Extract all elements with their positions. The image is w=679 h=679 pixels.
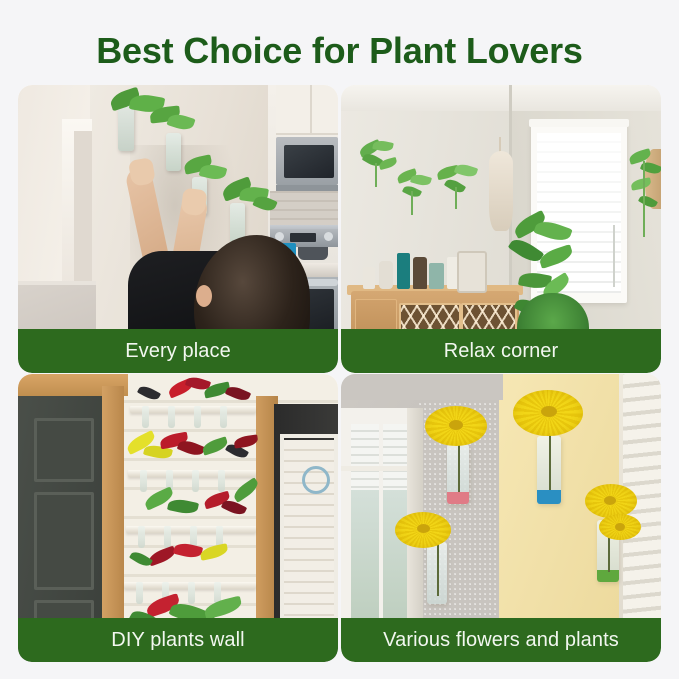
vase-band bbox=[537, 490, 561, 504]
daisy-center bbox=[417, 524, 430, 533]
hanging-vine bbox=[629, 151, 661, 261]
vase-band bbox=[447, 492, 469, 504]
test-tube-vase bbox=[220, 406, 227, 428]
daisy-center bbox=[604, 496, 616, 505]
wall-vase bbox=[166, 133, 181, 171]
ceiling bbox=[341, 85, 661, 111]
shelf-object bbox=[379, 261, 393, 289]
caption-label: DIY plants wall bbox=[111, 630, 244, 650]
test-tube-vase bbox=[194, 406, 201, 428]
right-door-frame bbox=[280, 434, 338, 648]
microwave-window bbox=[284, 145, 334, 178]
door-panel bbox=[34, 418, 94, 482]
teal-vase bbox=[397, 253, 410, 289]
upper-cabinet bbox=[276, 85, 338, 135]
blind-headrail bbox=[529, 119, 629, 127]
hallway-door bbox=[74, 131, 92, 287]
test-tube-vase bbox=[140, 470, 147, 492]
feature-grid: Every place bbox=[18, 85, 661, 662]
hanging-plant bbox=[437, 165, 481, 209]
caption-bar-diy-plants-wall: DIY plants wall bbox=[18, 618, 338, 662]
wall-vase bbox=[118, 103, 134, 151]
picture-frame bbox=[457, 251, 487, 293]
test-tube-vase bbox=[142, 406, 149, 428]
stove-knob bbox=[324, 232, 333, 241]
hanging-plant bbox=[359, 141, 399, 187]
test-tube-vase bbox=[218, 470, 225, 492]
caption-label: Every place bbox=[125, 341, 231, 361]
feature-card-every-place[interactable]: Every place bbox=[18, 85, 338, 373]
test-tube-vase bbox=[136, 582, 143, 604]
window-ornament bbox=[302, 466, 330, 494]
test-tube-vase bbox=[164, 526, 171, 548]
door-panel bbox=[34, 492, 94, 590]
daisy-center bbox=[615, 523, 625, 531]
ceiling bbox=[341, 374, 503, 400]
cooking-pot bbox=[298, 247, 328, 260]
test-tube-vase bbox=[192, 470, 199, 492]
daisy-center bbox=[449, 420, 463, 430]
cabinet-seam bbox=[310, 85, 312, 133]
caption-bar-every-place: Every place bbox=[18, 329, 338, 373]
caption-bar-various-flowers-and-plants: Various flowers and plants bbox=[341, 618, 661, 662]
caption-bar-relax-corner: Relax corner bbox=[341, 329, 661, 373]
page-title: Best Choice for Plant Lovers bbox=[0, 30, 679, 72]
feature-card-relax-corner[interactable]: Relax corner bbox=[341, 85, 661, 373]
hanging-plant bbox=[397, 171, 437, 215]
test-tube-vase bbox=[188, 582, 195, 604]
shelf-object bbox=[363, 267, 375, 289]
caption-label: Relax corner bbox=[444, 341, 559, 361]
backsplash bbox=[270, 191, 338, 227]
promo-infographic: Best Choice for Plant Lovers bbox=[0, 0, 679, 679]
blind-cord bbox=[613, 225, 615, 287]
test-tube-vase bbox=[168, 406, 175, 428]
person-ear bbox=[196, 285, 212, 307]
test-tube-vase bbox=[138, 526, 145, 548]
wooden-figurine bbox=[413, 257, 427, 289]
daisy-center bbox=[541, 406, 557, 417]
feature-card-diy-plants-wall[interactable]: DIY plants wall bbox=[18, 374, 338, 662]
caption-label: Various flowers and plants bbox=[383, 630, 619, 650]
stove-display bbox=[290, 233, 316, 242]
shelf-object bbox=[429, 263, 444, 289]
feature-card-various-flowers-and-plants[interactable]: Various flowers and plants bbox=[341, 374, 661, 662]
